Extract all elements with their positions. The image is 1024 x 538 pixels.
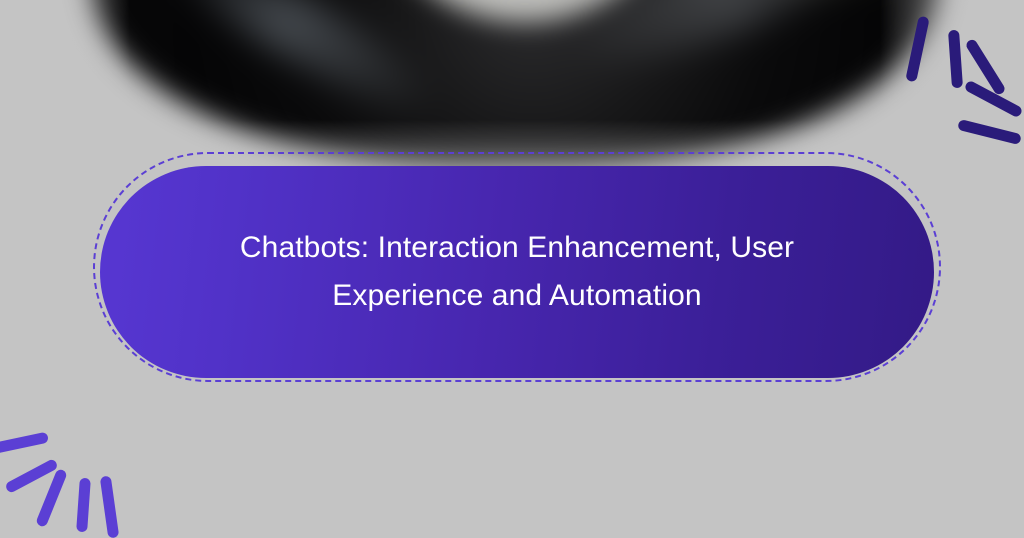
slide-canvas: Chatbots: Interaction Enhancement, User … [0,0,1024,538]
title-banner: Chatbots: Interaction Enhancement, User … [100,166,934,378]
sparkle-stroke [100,476,120,538]
sparkle-stroke [905,16,929,83]
vinyl-disc [88,0,943,170]
page-title: Chatbots: Interaction Enhancement, User … [187,224,847,320]
sparkle-burst-top-right-icon [900,8,1024,128]
sparkle-stroke [76,478,91,533]
sparkle-stroke [948,30,963,89]
sparkle-stroke [0,432,49,455]
sparkle-burst-bottom-left-icon [4,396,144,538]
